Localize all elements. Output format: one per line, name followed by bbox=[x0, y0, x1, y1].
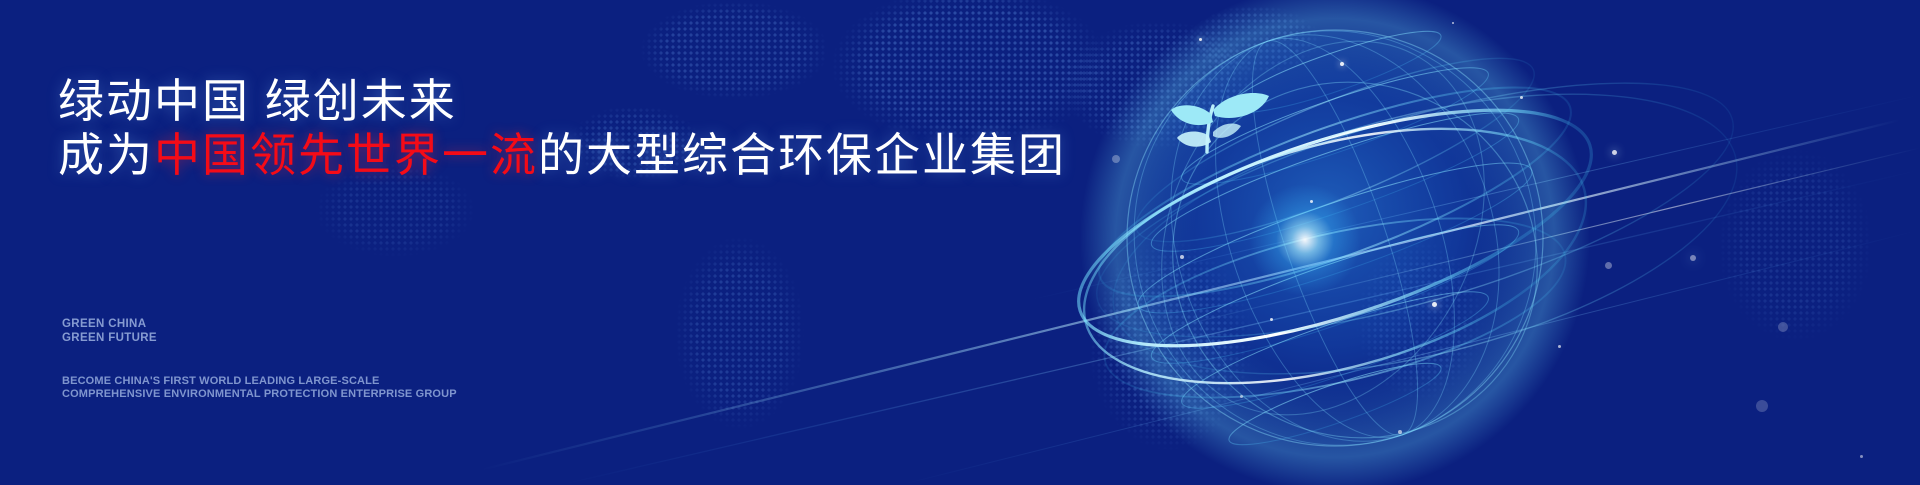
sparkle-particle bbox=[1778, 322, 1788, 332]
headline-suffix: 的大型综合环保企业集团 bbox=[538, 129, 1066, 181]
sparkle-particle bbox=[1756, 400, 1768, 412]
headline-line-1: 绿动中国 绿创未来 bbox=[58, 78, 457, 124]
sparkle-particle bbox=[1240, 395, 1243, 398]
sparkle-particle bbox=[1340, 62, 1344, 66]
tagline-line-2: GREEN FUTURE bbox=[62, 332, 157, 346]
subtagline-line-1: BECOME CHINA'S FIRST WORLD LEADING LARGE… bbox=[62, 375, 457, 388]
sparkle-particle bbox=[1270, 318, 1273, 321]
sparkle-particle bbox=[1199, 38, 1202, 41]
headline-line-2: 成为中国领先世界一流的大型综合环保企业集团 bbox=[58, 132, 1066, 178]
sparkle-particle bbox=[1452, 22, 1454, 24]
sparkle-particle bbox=[1432, 302, 1437, 307]
sparkle-particle bbox=[1180, 255, 1184, 259]
headline-highlight: 中国领先世界一流 bbox=[154, 129, 538, 181]
sparkle-particle bbox=[1612, 150, 1617, 155]
wireframe-globe bbox=[1055, 0, 1615, 485]
tagline-line-1: GREEN CHINA bbox=[62, 318, 157, 332]
sparkle-particle bbox=[1520, 96, 1523, 99]
subtagline-line-2: COMPREHENSIVE ENVIRONMENTAL PROTECTION E… bbox=[62, 388, 457, 401]
green-sprout-icon bbox=[1171, 93, 1269, 152]
headline-prefix: 成为 bbox=[58, 129, 154, 181]
sparkle-particle bbox=[1310, 200, 1313, 203]
banner-copy: 绿动中国 绿创未来 成为中国领先世界一流的大型综合环保企业集团 GREEN CH… bbox=[58, 0, 1058, 485]
subtagline: BECOME CHINA'S FIRST WORLD LEADING LARGE… bbox=[62, 375, 457, 401]
hero-banner: 绿动中国 绿创未来 成为中国领先世界一流的大型综合环保企业集团 GREEN CH… bbox=[0, 0, 1920, 485]
sparkle-particle bbox=[1112, 155, 1120, 163]
sparkle-particle bbox=[1690, 255, 1696, 261]
sparkle-particle bbox=[1860, 455, 1863, 458]
tagline: GREEN CHINA GREEN FUTURE bbox=[62, 318, 157, 345]
sparkle-particle bbox=[1605, 262, 1612, 269]
sparkle-particle bbox=[1558, 345, 1561, 348]
sparkle-particle bbox=[1398, 430, 1402, 434]
center-light-burst bbox=[1245, 180, 1365, 300]
